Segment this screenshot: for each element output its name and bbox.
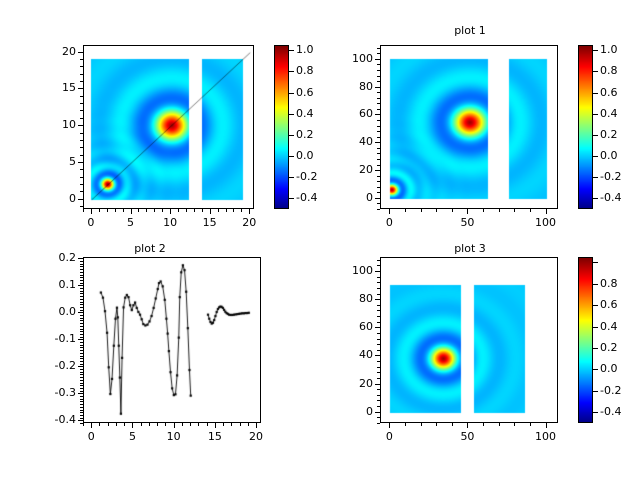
y-minor-tick bbox=[377, 148, 380, 149]
colorbar-tick bbox=[593, 71, 598, 72]
colorbar-tick-label: -0.2 bbox=[296, 170, 317, 183]
y-tick-label: 0.1 bbox=[30, 278, 76, 291]
x-tick-label: 0 bbox=[71, 216, 111, 229]
y-minor-tick bbox=[377, 165, 380, 166]
y-major-tick bbox=[78, 312, 83, 313]
subplot-panel-3: plot 3 050100020406080100 0.80.60.40.20.… bbox=[320, 240, 640, 480]
y-minor-tick bbox=[377, 192, 380, 193]
y-minor-tick bbox=[377, 81, 380, 82]
y-minor-tick bbox=[377, 98, 380, 99]
colorbar-tick bbox=[593, 177, 598, 178]
y-minor-tick bbox=[80, 347, 83, 348]
colorbar-tick bbox=[289, 177, 294, 178]
x-minor-tick bbox=[223, 423, 224, 426]
y-minor-tick bbox=[80, 184, 83, 185]
x-minor-tick bbox=[116, 423, 117, 426]
y-minor-tick bbox=[80, 318, 83, 319]
y-tick-label: 20 bbox=[327, 163, 373, 176]
y-minor-tick bbox=[377, 305, 380, 306]
y-minor-tick bbox=[80, 404, 83, 405]
x-minor-tick bbox=[107, 209, 108, 212]
y-minor-tick bbox=[377, 423, 380, 424]
colorbar-frame-3 bbox=[578, 257, 593, 423]
y-minor-tick bbox=[80, 410, 83, 411]
y-minor-tick bbox=[80, 396, 83, 397]
x-minor-tick bbox=[421, 209, 422, 212]
x-minor-tick bbox=[149, 423, 150, 426]
colorbar-tick bbox=[593, 305, 598, 306]
y-minor-tick bbox=[80, 388, 83, 389]
y-tick-label: 20 bbox=[30, 45, 76, 58]
y-tick-label: -0.4 bbox=[30, 413, 76, 426]
y-major-tick bbox=[78, 366, 83, 367]
y-tick-label: 15 bbox=[30, 81, 76, 94]
y-minor-tick bbox=[80, 350, 83, 351]
x-tick-label: 15 bbox=[195, 430, 235, 443]
y-minor-tick bbox=[80, 191, 83, 192]
y-minor-tick bbox=[80, 361, 83, 362]
y-minor-tick bbox=[80, 293, 83, 294]
y-minor-tick bbox=[80, 288, 83, 289]
x-minor-tick bbox=[124, 423, 125, 426]
y-minor-tick bbox=[80, 264, 83, 265]
x-minor-tick bbox=[514, 209, 515, 212]
x-minor-tick bbox=[499, 423, 500, 426]
y-minor-tick bbox=[377, 103, 380, 104]
y-minor-tick bbox=[80, 353, 83, 354]
y-minor-tick bbox=[377, 109, 380, 110]
y-major-tick bbox=[375, 114, 380, 115]
y-minor-tick bbox=[80, 383, 83, 384]
y-tick-label: -0.1 bbox=[30, 332, 76, 345]
y-minor-tick bbox=[80, 277, 83, 278]
x-minor-tick bbox=[186, 209, 187, 212]
plot-title-1: plot 1 bbox=[360, 24, 580, 37]
colorbar-tick bbox=[289, 135, 294, 136]
colorbar-tick bbox=[289, 198, 294, 199]
x-minor-tick bbox=[240, 423, 241, 426]
colorbar-tick-label: -0.4 bbox=[600, 405, 621, 418]
y-minor-tick bbox=[80, 391, 83, 392]
axes-frame-1 bbox=[380, 45, 558, 209]
y-minor-tick bbox=[80, 369, 83, 370]
y-tick-label: 40 bbox=[327, 135, 373, 148]
colorbar-frame-1 bbox=[578, 45, 593, 209]
colorbar-tick-label: 0.2 bbox=[296, 128, 314, 141]
y-tick-label: 60 bbox=[327, 107, 373, 120]
x-minor-tick bbox=[218, 209, 219, 212]
colorbar-tick-label: 0.8 bbox=[600, 64, 618, 77]
x-tick-label: 5 bbox=[112, 430, 152, 443]
y-tick-label: 10 bbox=[30, 118, 76, 131]
y-minor-tick bbox=[377, 350, 380, 351]
y-minor-tick bbox=[80, 337, 83, 338]
y-major-tick bbox=[78, 199, 83, 200]
y-tick-label: 40 bbox=[327, 348, 373, 361]
y-minor-tick bbox=[377, 159, 380, 160]
y-tick-label: 0 bbox=[327, 405, 373, 418]
y-minor-tick bbox=[80, 310, 83, 311]
y-minor-tick bbox=[80, 326, 83, 327]
y-minor-tick bbox=[80, 133, 83, 134]
colorbar-tick-label: 0.4 bbox=[600, 107, 618, 120]
y-minor-tick bbox=[377, 203, 380, 204]
colorbar-tick bbox=[593, 114, 598, 115]
subplot-panel-0: 0510152005101520 1.00.80.60.40.20.0-0.2-… bbox=[0, 0, 320, 240]
y-minor-tick bbox=[80, 96, 83, 97]
x-major-tick bbox=[132, 423, 133, 428]
x-minor-tick bbox=[452, 209, 453, 212]
y-minor-tick bbox=[377, 333, 380, 334]
y-minor-tick bbox=[80, 385, 83, 386]
colorbar-gradient-0 bbox=[275, 46, 289, 209]
colorbar-tick-label: -0.2 bbox=[600, 384, 621, 397]
x-minor-tick bbox=[248, 423, 249, 426]
y-minor-tick bbox=[80, 103, 83, 104]
y-minor-tick bbox=[80, 110, 83, 111]
y-minor-tick bbox=[377, 92, 380, 93]
y-major-tick bbox=[78, 420, 83, 421]
x-minor-tick bbox=[405, 423, 406, 426]
x-minor-tick bbox=[108, 423, 109, 426]
colorbar-gradient-3 bbox=[579, 258, 593, 423]
colorbar-tick bbox=[593, 262, 598, 263]
colorbar-tick-label: 0.6 bbox=[600, 86, 618, 99]
y-minor-tick bbox=[80, 74, 83, 75]
x-tick-label: 0 bbox=[369, 216, 409, 229]
y-minor-tick bbox=[80, 59, 83, 60]
colorbar-tick bbox=[593, 391, 598, 392]
y-minor-tick bbox=[80, 307, 83, 308]
axes-frame-0 bbox=[83, 45, 254, 209]
x-major-tick bbox=[174, 423, 175, 428]
y-minor-tick bbox=[80, 266, 83, 267]
x-tick-label: 10 bbox=[150, 216, 190, 229]
x-minor-tick bbox=[141, 423, 142, 426]
colorbar-gradient-1 bbox=[579, 46, 593, 209]
y-minor-tick bbox=[377, 187, 380, 188]
colorbar-tick bbox=[289, 114, 294, 115]
x-major-tick bbox=[467, 209, 468, 214]
y-minor-tick bbox=[80, 331, 83, 332]
y-minor-tick bbox=[80, 364, 83, 365]
colorbar-tick-label: -0.2 bbox=[600, 170, 621, 183]
y-minor-tick bbox=[80, 334, 83, 335]
y-minor-tick bbox=[377, 294, 380, 295]
x-minor-tick bbox=[483, 423, 484, 426]
y-major-tick bbox=[375, 299, 380, 300]
y-major-tick bbox=[78, 285, 83, 286]
x-major-tick bbox=[546, 423, 547, 428]
x-minor-tick bbox=[138, 209, 139, 212]
y-minor-tick bbox=[80, 280, 83, 281]
x-major-tick bbox=[389, 423, 390, 428]
y-minor-tick bbox=[377, 282, 380, 283]
y-tick-label: 20 bbox=[327, 377, 373, 390]
colorbar-tick-label: -0.4 bbox=[296, 191, 317, 204]
y-minor-tick bbox=[80, 380, 83, 381]
y-tick-label: 0 bbox=[30, 192, 76, 205]
y-minor-tick bbox=[377, 176, 380, 177]
y-minor-tick bbox=[377, 361, 380, 362]
y-major-tick bbox=[78, 393, 83, 394]
y-minor-tick bbox=[80, 407, 83, 408]
x-tick-label: 50 bbox=[447, 216, 487, 229]
x-major-tick bbox=[91, 209, 92, 214]
y-minor-tick bbox=[80, 299, 83, 300]
y-minor-tick bbox=[377, 367, 380, 368]
x-major-tick bbox=[91, 423, 92, 428]
y-minor-tick bbox=[80, 269, 83, 270]
y-minor-tick bbox=[80, 261, 83, 262]
y-tick-label: 0.0 bbox=[30, 305, 76, 318]
colorbar-tick-label: 0.8 bbox=[296, 64, 314, 77]
y-minor-tick bbox=[80, 401, 83, 402]
x-major-tick bbox=[467, 423, 468, 428]
x-minor-tick bbox=[154, 209, 155, 212]
y-minor-tick bbox=[80, 155, 83, 156]
y-minor-tick bbox=[80, 66, 83, 67]
x-minor-tick bbox=[115, 209, 116, 212]
x-tick-label: 10 bbox=[154, 430, 194, 443]
x-minor-tick bbox=[157, 423, 158, 426]
colorbar-tick bbox=[289, 50, 294, 51]
y-minor-tick bbox=[80, 345, 83, 346]
heatmap-image-0 bbox=[84, 46, 254, 209]
y-minor-tick bbox=[377, 344, 380, 345]
x-tick-label: 15 bbox=[190, 216, 230, 229]
x-minor-tick bbox=[99, 209, 100, 212]
y-minor-tick bbox=[377, 137, 380, 138]
y-minor-tick bbox=[377, 265, 380, 266]
x-minor-tick bbox=[241, 209, 242, 212]
colorbar-tick-label: 1.0 bbox=[600, 43, 618, 56]
y-major-tick bbox=[78, 258, 83, 259]
y-minor-tick bbox=[80, 320, 83, 321]
y-minor-tick bbox=[80, 140, 83, 141]
y-minor-tick bbox=[377, 322, 380, 323]
x-major-tick bbox=[131, 209, 132, 214]
colorbar-tick bbox=[593, 348, 598, 349]
y-major-tick bbox=[375, 87, 380, 88]
heatmap-image-3 bbox=[381, 258, 558, 423]
y-major-tick bbox=[78, 162, 83, 163]
y-minor-tick bbox=[377, 53, 380, 54]
y-major-tick bbox=[375, 327, 380, 328]
colorbar-tick-label: 0.2 bbox=[600, 341, 618, 354]
y-tick-label: -0.2 bbox=[30, 359, 76, 372]
x-major-tick bbox=[546, 209, 547, 214]
y-minor-tick bbox=[80, 323, 83, 324]
x-minor-tick bbox=[226, 209, 227, 212]
y-minor-tick bbox=[80, 296, 83, 297]
y-minor-tick bbox=[80, 415, 83, 416]
y-major-tick bbox=[375, 384, 380, 385]
colorbar-tick-label: 0.0 bbox=[600, 362, 618, 375]
x-tick-label: 100 bbox=[526, 216, 566, 229]
y-minor-tick bbox=[377, 76, 380, 77]
x-major-tick bbox=[215, 423, 216, 428]
x-tick-label: 50 bbox=[447, 430, 487, 443]
subplot-panel-1: plot 1 050100020406080100 1.00.80.60.40.… bbox=[320, 0, 640, 240]
y-minor-tick bbox=[377, 400, 380, 401]
y-minor-tick bbox=[80, 177, 83, 178]
y-minor-tick bbox=[80, 206, 83, 207]
y-minor-tick bbox=[80, 399, 83, 400]
y-major-tick bbox=[375, 198, 380, 199]
colorbar-tick bbox=[593, 327, 598, 328]
x-minor-tick bbox=[83, 423, 84, 426]
y-major-tick bbox=[78, 88, 83, 89]
y-minor-tick bbox=[377, 181, 380, 182]
x-tick-label: 5 bbox=[111, 216, 151, 229]
x-minor-tick bbox=[165, 423, 166, 426]
y-minor-tick bbox=[377, 406, 380, 407]
y-minor-tick bbox=[80, 302, 83, 303]
y-minor-tick bbox=[80, 356, 83, 357]
y-minor-tick bbox=[377, 277, 380, 278]
colorbar-tick-label: -0.4 bbox=[600, 191, 621, 204]
y-minor-tick bbox=[377, 260, 380, 261]
colorbar-tick-label: 0.4 bbox=[296, 107, 314, 120]
colorbar-tick-label: 0.8 bbox=[600, 277, 618, 290]
x-minor-tick bbox=[194, 209, 195, 212]
y-major-tick bbox=[78, 125, 83, 126]
x-minor-tick bbox=[198, 423, 199, 426]
x-major-tick bbox=[210, 209, 211, 214]
y-minor-tick bbox=[80, 275, 83, 276]
y-minor-tick bbox=[377, 339, 380, 340]
x-minor-tick bbox=[483, 209, 484, 212]
x-minor-tick bbox=[421, 423, 422, 426]
figure-canvas: 0510152005101520 1.00.80.60.40.20.0-0.2-… bbox=[0, 0, 640, 480]
y-tick-label: 60 bbox=[327, 320, 373, 333]
x-minor-tick bbox=[514, 423, 515, 426]
colorbar-tick bbox=[593, 50, 598, 51]
colorbar-tick-label: 0.6 bbox=[296, 86, 314, 99]
x-minor-tick bbox=[178, 209, 179, 212]
y-minor-tick bbox=[377, 48, 380, 49]
y-minor-tick bbox=[377, 417, 380, 418]
heatmap-image-1 bbox=[381, 46, 558, 209]
y-minor-tick bbox=[80, 81, 83, 82]
y-minor-tick bbox=[80, 374, 83, 375]
plot-title-3: plot 3 bbox=[360, 242, 580, 255]
axes-frame-3 bbox=[380, 257, 558, 423]
colorbar-tick bbox=[593, 284, 598, 285]
x-minor-tick bbox=[436, 209, 437, 212]
y-minor-tick bbox=[377, 310, 380, 311]
y-minor-tick bbox=[377, 288, 380, 289]
colorbar-tick-label: 0.4 bbox=[600, 320, 618, 333]
subplot-panel-2: plot 2 051015200.20.10.0-0.1-0.2-0.3-0.4 bbox=[0, 240, 320, 480]
y-minor-tick bbox=[377, 126, 380, 127]
x-tick-label: 20 bbox=[236, 430, 276, 443]
x-major-tick bbox=[249, 209, 250, 214]
colorbar-tick bbox=[289, 156, 294, 157]
x-minor-tick bbox=[233, 209, 234, 212]
y-minor-tick bbox=[80, 418, 83, 419]
y-major-tick bbox=[78, 339, 83, 340]
colorbar-tick bbox=[593, 369, 598, 370]
colorbar-tick bbox=[289, 93, 294, 94]
x-tick-label: 0 bbox=[71, 430, 111, 443]
x-minor-tick bbox=[530, 423, 531, 426]
colorbar-frame-0 bbox=[274, 45, 289, 209]
y-major-tick bbox=[375, 355, 380, 356]
line-series-2 bbox=[84, 258, 261, 423]
colorbar-tick bbox=[593, 198, 598, 199]
x-major-tick bbox=[256, 423, 257, 428]
x-minor-tick bbox=[83, 209, 84, 212]
y-minor-tick bbox=[377, 153, 380, 154]
y-tick-label: 80 bbox=[327, 80, 373, 93]
y-minor-tick bbox=[80, 283, 83, 284]
y-minor-tick bbox=[377, 209, 380, 210]
y-major-tick bbox=[375, 170, 380, 171]
y-major-tick bbox=[375, 59, 380, 60]
x-tick-label: 100 bbox=[526, 430, 566, 443]
y-minor-tick bbox=[80, 304, 83, 305]
y-minor-tick bbox=[377, 378, 380, 379]
colorbar-tick bbox=[289, 71, 294, 72]
x-minor-tick bbox=[202, 209, 203, 212]
x-tick-label: 0 bbox=[369, 430, 409, 443]
y-minor-tick bbox=[377, 120, 380, 121]
y-minor-tick bbox=[80, 147, 83, 148]
y-minor-tick bbox=[80, 169, 83, 170]
x-minor-tick bbox=[231, 423, 232, 426]
colorbar-tick-label: 1.0 bbox=[296, 43, 314, 56]
y-minor-tick bbox=[377, 395, 380, 396]
colorbar-tick bbox=[593, 93, 598, 94]
y-tick-label: 80 bbox=[327, 292, 373, 305]
y-tick-label: 100 bbox=[327, 264, 373, 277]
x-minor-tick bbox=[452, 423, 453, 426]
x-minor-tick bbox=[405, 209, 406, 212]
x-minor-tick bbox=[123, 209, 124, 212]
x-minor-tick bbox=[207, 423, 208, 426]
y-minor-tick bbox=[80, 342, 83, 343]
y-minor-tick bbox=[80, 315, 83, 316]
y-major-tick bbox=[375, 271, 380, 272]
x-minor-tick bbox=[162, 209, 163, 212]
y-tick-label: -0.3 bbox=[30, 386, 76, 399]
y-minor-tick bbox=[80, 423, 83, 424]
y-major-tick bbox=[375, 412, 380, 413]
colorbar-tick bbox=[593, 135, 598, 136]
y-minor-tick bbox=[80, 291, 83, 292]
colorbar-tick bbox=[593, 412, 598, 413]
y-minor-tick bbox=[377, 64, 380, 65]
y-minor-tick bbox=[80, 377, 83, 378]
y-minor-tick bbox=[377, 131, 380, 132]
y-minor-tick bbox=[80, 272, 83, 273]
y-tick-label: 100 bbox=[327, 52, 373, 65]
x-minor-tick bbox=[182, 423, 183, 426]
x-minor-tick bbox=[146, 209, 147, 212]
colorbar-tick-label: 0.2 bbox=[600, 128, 618, 141]
y-minor-tick bbox=[80, 118, 83, 119]
y-minor-tick bbox=[377, 70, 380, 71]
y-major-tick bbox=[78, 52, 83, 53]
x-major-tick bbox=[389, 209, 390, 214]
colorbar-tick-label: 0.0 bbox=[600, 149, 618, 162]
y-minor-tick bbox=[377, 389, 380, 390]
colorbar-tick-label: 0.0 bbox=[296, 149, 314, 162]
y-minor-tick bbox=[377, 316, 380, 317]
y-minor-tick bbox=[80, 329, 83, 330]
